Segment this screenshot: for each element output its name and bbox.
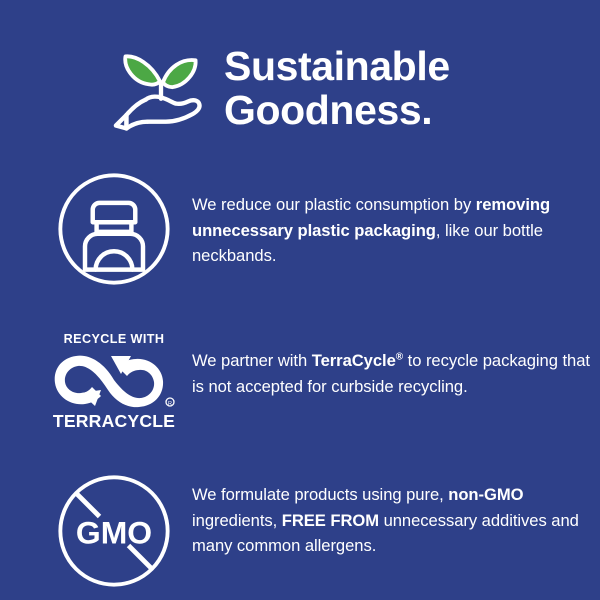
registered-trademark-mark: ®: [396, 351, 403, 362]
text-part-bold: FREE FROM: [282, 511, 379, 530]
infinity-recycle-arrows-icon: R: [51, 350, 177, 410]
list-item: We reduce our plastic consumption by rem…: [0, 164, 600, 294]
text-part: We partner with: [192, 351, 312, 370]
hand-holding-seedling-icon: [112, 43, 210, 139]
sustainable-goodness-panel: Sustainable Goodness. We reduce o: [0, 0, 600, 600]
no-gmo-icon-label: GMO: [76, 515, 152, 551]
list-item-text: We reduce our plastic consumption by rem…: [178, 164, 600, 269]
list-item-text: We formulate products using pure, non-GM…: [178, 466, 600, 559]
terracycle-logo: RECYCLE WITH R: [50, 316, 178, 446]
terracycle-logo-top-text: RECYCLE WITH: [64, 332, 165, 346]
text-part: ingredients,: [192, 511, 282, 530]
claims-list: We reduce our plastic consumption by rem…: [0, 164, 600, 596]
list-item: RECYCLE WITH R: [0, 316, 600, 446]
text-part-bold: non-GMO: [448, 485, 523, 504]
no-gmo-circle-icon: GMO: [50, 466, 178, 596]
list-item: GMO We formulate products using pure, no…: [0, 466, 600, 596]
text-part-bold: TerraCycle: [312, 351, 396, 370]
header: Sustainable Goodness.: [0, 0, 600, 150]
terracycle-logo-bottom-text: TERRACYCLE: [53, 411, 175, 431]
text-part: We reduce our plastic consumption by: [192, 195, 476, 214]
text-part: We formulate products using pure,: [192, 485, 448, 504]
list-item-text: We partner with TerraCycle® to recycle p…: [178, 316, 600, 399]
page-title: Sustainable Goodness.: [224, 44, 450, 132]
bottle-neckband-circle-icon: [50, 164, 178, 294]
svg-text:R: R: [168, 401, 172, 407]
